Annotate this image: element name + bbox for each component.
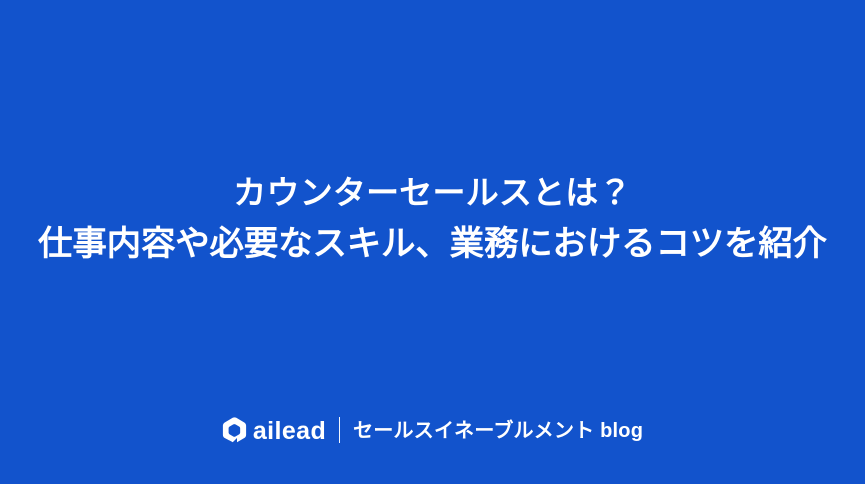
ailead-wordmark: ailead bbox=[253, 419, 326, 444]
ailead-hexagon-logo-icon bbox=[222, 417, 247, 443]
title-line-1: カウンターセールスとは？ bbox=[10, 168, 855, 218]
page-title: カウンターセールスとは？ 仕事内容や必要なスキル、業務におけるコツを紹介 bbox=[0, 168, 865, 271]
blog-article-header-card: カウンターセールスとは？ 仕事内容や必要なスキル、業務におけるコツを紹介 ail… bbox=[0, 0, 865, 484]
brand-tagline: セールスイネーブルメント blog bbox=[353, 421, 643, 441]
brand-divider bbox=[339, 417, 340, 443]
title-line-2: 仕事内容や必要なスキル、業務におけるコツを紹介 bbox=[10, 218, 855, 270]
brand-footer: ailead セールスイネーブルメント blog bbox=[0, 417, 865, 443]
ailead-logo[interactable]: ailead bbox=[222, 417, 326, 443]
